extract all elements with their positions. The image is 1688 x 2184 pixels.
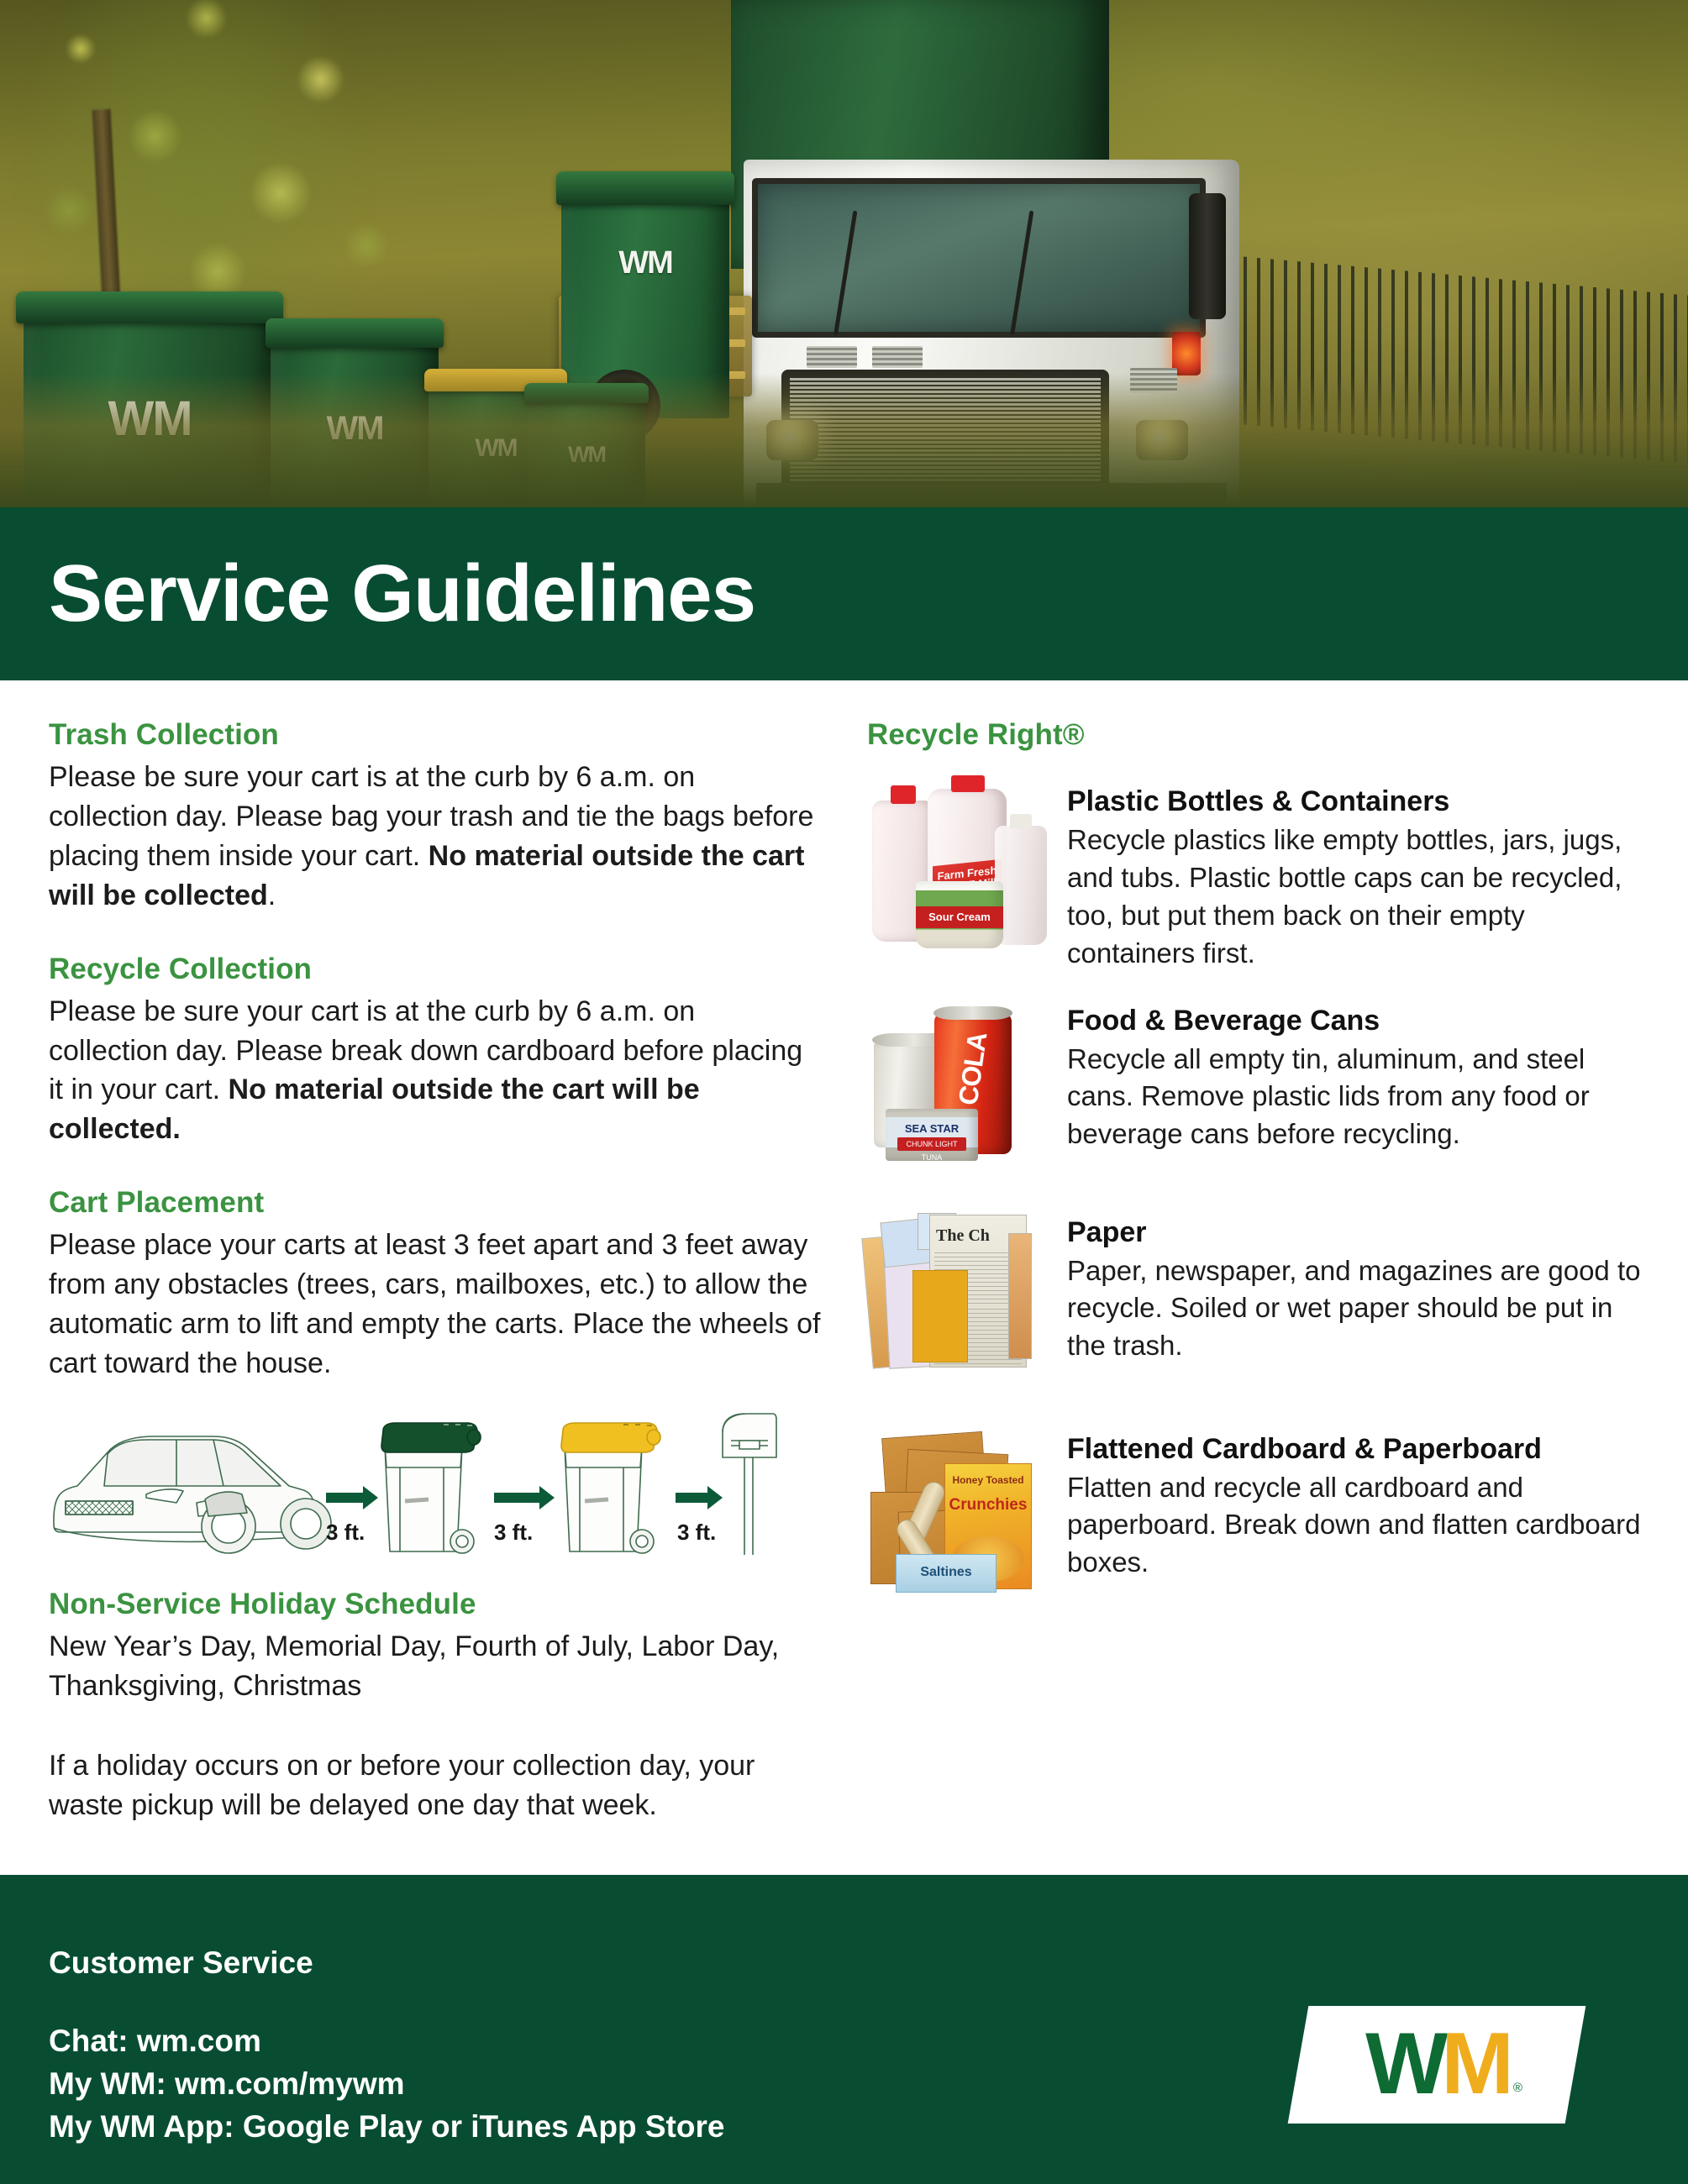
sour-cream-label: Sour Cream: [916, 906, 1003, 928]
trash-body-tail: .: [268, 879, 276, 911]
tuna-can-icon: SEA STAR CHUNK LIGHT TUNA: [886, 1109, 978, 1161]
section-heading-holiday: Non-Service Holiday Schedule: [49, 1588, 822, 1621]
section-heading-trash: Trash Collection: [49, 718, 822, 752]
wm-logo-m: M: [1441, 2029, 1509, 2100]
footer-line-chat[interactable]: Chat: wm.com: [49, 2019, 724, 2062]
holiday-list: New Year’s Day, Memorial Day, Fourth of …: [49, 1627, 822, 1706]
gap-label-3: 3 ft.: [677, 1520, 716, 1546]
cracker-box-icon: Saltines: [896, 1554, 996, 1593]
truck-mirror-icon: [1189, 193, 1226, 319]
section-body-cart-placement: Please place your carts at least 3 feet …: [49, 1226, 822, 1383]
paper-desc: Paper, newspaper, and magazines are good…: [1067, 1252, 1649, 1366]
wm-logo-w: W: [1365, 2029, 1441, 2100]
section-trash-collection: Trash Collection Please be sure your car…: [49, 718, 822, 916]
plastic-bottles-image: Farm Fresh WHOLE Milk Sour Cream: [867, 782, 1050, 950]
recycle-item-paper: The Ch Paper Paper, newspaper, and magaz…: [867, 1213, 1649, 1381]
footer-line-app[interactable]: My WM App: Google Play or iTunes App Sto…: [49, 2105, 724, 2148]
section-recycle-collection: Recycle Collection Please be sure your c…: [49, 953, 822, 1150]
plastic-text: Plastic Bottles & Containers Recycle pla…: [1067, 782, 1649, 973]
cardboard-title: Flattened Cardboard & Paperboard: [1067, 1433, 1649, 1466]
soda-can-label: COLA: [952, 1028, 993, 1109]
title-band: Service Guidelines: [0, 507, 1688, 680]
hero-photo: WM WM WM WM WM: [0, 0, 1688, 507]
section-cart-placement: Cart Placement Please place your carts a…: [49, 1186, 822, 1557]
wm-logo-inner: WM ®: [1365, 2029, 1509, 2100]
sour-cream-tub-icon: Sour Cream: [916, 881, 1003, 948]
plastic-title: Plastic Bottles & Containers: [1067, 785, 1649, 818]
newspaper-masthead: The Ch: [936, 1226, 990, 1246]
gap-label-2: 3 ft.: [494, 1520, 533, 1546]
customer-service-title: Customer Service: [49, 1945, 313, 1981]
plastic-desc: Recycle plastics like empty bottles, jar…: [1067, 822, 1649, 973]
section-heading-recycle-right: Recycle Right®: [867, 718, 1649, 752]
footer-line-mywm[interactable]: My WM: wm.com/mywm: [49, 2062, 724, 2105]
section-heading-cart-placement: Cart Placement: [49, 1186, 822, 1220]
content-area: Trash Collection Please be sure your car…: [0, 680, 1688, 1875]
sour-cream-band: Sour Cream: [916, 906, 1003, 928]
truck-vent-icon-2: [872, 346, 923, 368]
wm-logo: WM ®: [1288, 2006, 1586, 2124]
section-heading-recycle: Recycle Collection: [49, 953, 822, 986]
tuna-sub-label: CHUNK LIGHT TUNA: [897, 1137, 966, 1151]
truck-vent-icon: [807, 346, 857, 368]
cart-lid: [266, 318, 444, 348]
page-title: Service Guidelines: [49, 554, 755, 634]
hero-grass-foreground: [0, 373, 1688, 507]
recycle-item-cardboard: Honey Toasted Crunchies Saltines Flatten…: [867, 1430, 1649, 1598]
food-beverage-cans-image: COLA SEA STAR CHUNK LIGHT TUNA: [867, 1001, 1050, 1169]
section-body-recycle: Please be sure your cart is at the curb …: [49, 992, 822, 1150]
section-body-trash: Please be sure your cart is at the curb …: [49, 758, 822, 916]
flattened-cardboard-image: Honey Toasted Crunchies Saltines: [867, 1430, 1050, 1598]
car-icon: [54, 1436, 331, 1553]
wm-logo-registered: ®: [1512, 2082, 1522, 2096]
cracker-label: Saltines: [897, 1565, 996, 1580]
cart-wm-logo: WM: [618, 245, 672, 281]
cart-lid: [556, 171, 734, 206]
cereal-main-label: Crunchies: [945, 1496, 1031, 1515]
cardboard-text: Flattened Cardboard & Paperboard Flatten…: [1067, 1430, 1649, 1583]
section-holiday-schedule: Non-Service Holiday Schedule New Year’s …: [49, 1588, 822, 1825]
cans-title: Food & Beverage Cans: [1067, 1005, 1649, 1037]
mailbox-icon: [723, 1414, 776, 1555]
trash-cart-icon: [381, 1423, 481, 1553]
paper-title: Paper: [1067, 1216, 1649, 1249]
customer-service-lines: Chat: wm.com My WM: wm.com/mywm My WM Ap…: [49, 2019, 724, 2148]
recycle-cart-icon: [561, 1423, 660, 1553]
cart-placement-diagram: 3 ft. 3 ft. 3 ft.: [49, 1402, 788, 1557]
cart-lid: [16, 291, 283, 323]
recycle-item-cans: COLA SEA STAR CHUNK LIGHT TUNA Food & Be…: [867, 1001, 1649, 1169]
left-column: Trash Collection Please be sure your car…: [49, 718, 822, 1862]
paper-image: The Ch: [867, 1213, 1050, 1381]
cans-text: Food & Beverage Cans Recycle all empty t…: [1067, 1001, 1649, 1154]
truck-windshield: [752, 178, 1206, 338]
right-column: Recycle Right® Farm Fresh WHOLE Milk Sou…: [867, 718, 1649, 1606]
tuna-brand-label: SEA STAR: [886, 1122, 978, 1135]
service-guidelines-page: WM WM WM WM WM Service Guidelines Trash …: [0, 0, 1688, 2184]
cardboard-desc: Flatten and recycle all cardboard and pa…: [1067, 1469, 1649, 1583]
paper-stack-icon: The Ch: [867, 1213, 1032, 1373]
paper-text: Paper Paper, newspaper, and magazines ar…: [1067, 1213, 1649, 1366]
cereal-top-label: Honey Toasted: [945, 1474, 1031, 1486]
holiday-note: If a holiday occurs on or before your co…: [49, 1746, 822, 1825]
cans-desc: Recycle all empty tin, aluminum, and ste…: [1067, 1041, 1649, 1154]
gap-label-1: 3 ft.: [326, 1520, 365, 1546]
yellow-envelope-icon: [912, 1270, 968, 1362]
arrow-icons: [326, 1486, 723, 1509]
recycle-item-plastic: Farm Fresh WHOLE Milk Sour Cream Plastic…: [867, 782, 1649, 973]
